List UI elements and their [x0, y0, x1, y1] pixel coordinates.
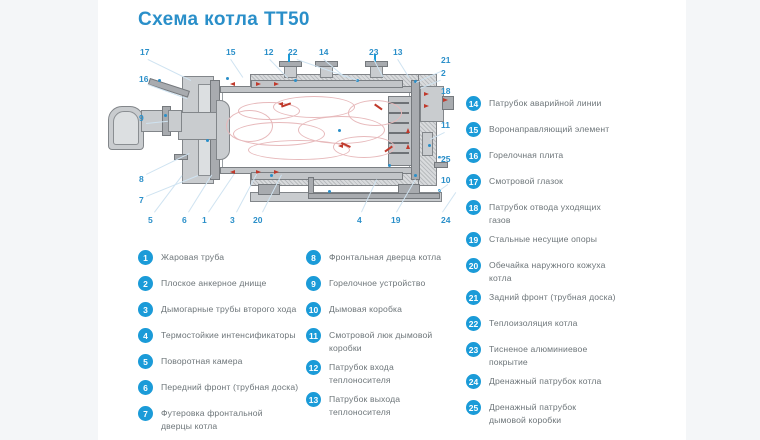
legend-item-5: 5Поворотная камера — [138, 354, 243, 369]
callout-number-9: 9 — [139, 114, 144, 123]
legend-label-3: Дымогарные трубы второго хода — [161, 302, 296, 316]
legend-label-9: Горелочное устройство — [329, 276, 425, 290]
legend-badge-17: 17 — [466, 174, 481, 189]
legend-label-14: Патрубок аварийной линии — [489, 96, 602, 110]
callout-number-19: 19 — [391, 216, 400, 225]
callout-number-22: 22 — [288, 48, 297, 57]
legend-item-17: 17Смотровой глазок — [466, 174, 563, 189]
legend-badge-2: 2 — [138, 276, 153, 291]
legend-badge-14: 14 — [466, 96, 481, 111]
legend-item-1: 1Жаровая труба — [138, 250, 224, 265]
legend-label-15: Воронаправляющий элемент — [489, 122, 609, 136]
legend-item-16: 16Горелочная плита — [466, 148, 563, 163]
legend-badge-22: 22 — [466, 316, 481, 331]
legend-item-6: 6Передний фронт (трубная доска) — [138, 380, 298, 395]
callout-number-6: 6 — [182, 216, 187, 225]
callout-number-11: 11 — [441, 121, 450, 130]
callout-number-20: 20 — [253, 216, 262, 225]
legend-item-7: 7Футеровка фронтальной дверцы котла — [138, 406, 263, 432]
legend-item-11: 11Смотровой люк дымовой коробки — [306, 328, 432, 354]
callout-number-10: 10 — [441, 176, 450, 185]
callout-number-12: 12 — [264, 48, 273, 57]
legend-column-2: 8Фронтальная дверца котла9Горелочное уст… — [306, 250, 476, 440]
legend-badge-8: 8 — [306, 250, 321, 265]
legend-badge-1: 1 — [138, 250, 153, 265]
legend-label-1: Жаровая труба — [161, 250, 224, 264]
legend-item-12: 12Патрубок входа теплоносителя — [306, 360, 394, 386]
legend-item-3: 3Дымогарные трубы второго хода — [138, 302, 296, 317]
legend-label-13: Патрубок выхода теплоносителя — [329, 392, 400, 418]
legend-label-18: Патрубок отвода уходящих газов — [489, 200, 601, 226]
callout-number-7: 7 — [139, 196, 144, 205]
legend-badge-6: 6 — [138, 380, 153, 395]
legend-badge-19: 19 — [466, 232, 481, 247]
legend-label-10: Дымовая коробка — [329, 302, 402, 316]
legend-item-23: 23Тисненое алюминиевое покрытие — [466, 342, 587, 368]
legend-item-14: 14Патрубок аварийной линии — [466, 96, 602, 111]
legend-item-10: 10Дымовая коробка — [306, 302, 402, 317]
callout-number-25: 25 — [441, 155, 450, 164]
legend-badge-11: 11 — [306, 328, 321, 343]
legend-badge-21: 21 — [466, 290, 481, 305]
legend-label-24: Дренажный патрубок котла — [489, 374, 601, 388]
legend-badge-7: 7 — [138, 406, 153, 421]
legend-label-16: Горелочная плита — [489, 148, 563, 162]
legend-label-20: Обечайка наружного кожуха котла — [489, 258, 606, 284]
legend-label-23: Тисненое алюминиевое покрытие — [489, 342, 587, 368]
legend-badge-4: 4 — [138, 328, 153, 343]
callout-number-2: 2 — [441, 69, 446, 78]
legend-badge-9: 9 — [306, 276, 321, 291]
legend-label-22: Теплоизоляция котла — [489, 316, 578, 330]
callout-number-24: 24 — [441, 216, 450, 225]
legend-item-13: 13Патрубок выхода теплоносителя — [306, 392, 400, 418]
legend-column-1: 1Жаровая труба2Плоское анкерное днище3Ды… — [138, 250, 318, 440]
legend-badge-5: 5 — [138, 354, 153, 369]
legend-item-8: 8Фронтальная дверца котла — [306, 250, 441, 265]
legend-badge-13: 13 — [306, 392, 321, 407]
callout-number-15: 15 — [226, 48, 235, 57]
legend-badge-10: 10 — [306, 302, 321, 317]
legend-item-21: 21Задний фронт (трубная доска) — [466, 290, 616, 305]
legend-item-18: 18Патрубок отвода уходящих газов — [466, 200, 601, 226]
legend-label-21: Задний фронт (трубная доска) — [489, 290, 616, 304]
legend-badge-18: 18 — [466, 200, 481, 215]
legend-label-25: Дренажный патрубок дымовой коробки — [489, 400, 576, 426]
legend-item-2: 2Плоское анкерное днище — [138, 276, 266, 291]
legend-column-3: 14Патрубок аварийной линии15Воронаправля… — [466, 96, 666, 440]
legend-badge-20: 20 — [466, 258, 481, 273]
page-title: Схема котла ТТ50 — [138, 9, 310, 31]
legend-item-25: 25Дренажный патрубок дымовой коробки — [466, 400, 576, 426]
callout-number-4: 4 — [357, 216, 362, 225]
legend-label-17: Смотровой глазок — [489, 174, 563, 188]
legend-item-4: 4Термостойкие интенсификаторы — [138, 328, 296, 343]
legend-label-12: Патрубок входа теплоносителя — [329, 360, 394, 386]
callout-number-1: 1 — [202, 216, 207, 225]
legend-badge-16: 16 — [466, 148, 481, 163]
legend-label-8: Фронтальная дверца котла — [329, 250, 441, 264]
callout-number-21: 21 — [441, 56, 450, 65]
legend-label-6: Передний фронт (трубная доска) — [161, 380, 298, 394]
legend-item-15: 15Воронаправляющий элемент — [466, 122, 609, 137]
legend-badge-12: 12 — [306, 360, 321, 375]
callout-number-3: 3 — [230, 216, 235, 225]
legend-item-19: 19Стальные несущие опоры — [466, 232, 597, 247]
legend-label-2: Плоское анкерное днище — [161, 276, 266, 290]
legend-badge-25: 25 — [466, 400, 481, 415]
legend-label-4: Термостойкие интенсификаторы — [161, 328, 296, 342]
page-root: Схема котла ТТ50 — [0, 0, 760, 440]
legend-label-5: Поворотная камера — [161, 354, 243, 368]
legend-label-19: Стальные несущие опоры — [489, 232, 597, 246]
callout-number-17: 17 — [140, 48, 149, 57]
callout-number-5: 5 — [148, 216, 153, 225]
legend-badge-24: 24 — [466, 374, 481, 389]
legend-label-7: Футеровка фронтальной дверцы котла — [161, 406, 263, 432]
callout-number-18: 18 — [441, 87, 450, 96]
callout-number-23: 23 — [369, 48, 378, 57]
legend-badge-23: 23 — [466, 342, 481, 357]
legend-item-22: 22Теплоизоляция котла — [466, 316, 578, 331]
content-card: Схема котла ТТ50 — [98, 0, 686, 440]
callout-number-13: 13 — [393, 48, 402, 57]
callout-number-14: 14 — [319, 48, 328, 57]
legend-item-24: 24Дренажный патрубок котла — [466, 374, 601, 389]
legend-badge-3: 3 — [138, 302, 153, 317]
legend-badge-15: 15 — [466, 122, 481, 137]
callout-number-8: 8 — [139, 175, 144, 184]
legend-label-11: Смотровой люк дымовой коробки — [329, 328, 432, 354]
legend-item-9: 9Горелочное устройство — [306, 276, 425, 291]
callout-number-16: 16 — [139, 75, 148, 84]
legend-item-20: 20Обечайка наружного кожуха котла — [466, 258, 606, 284]
